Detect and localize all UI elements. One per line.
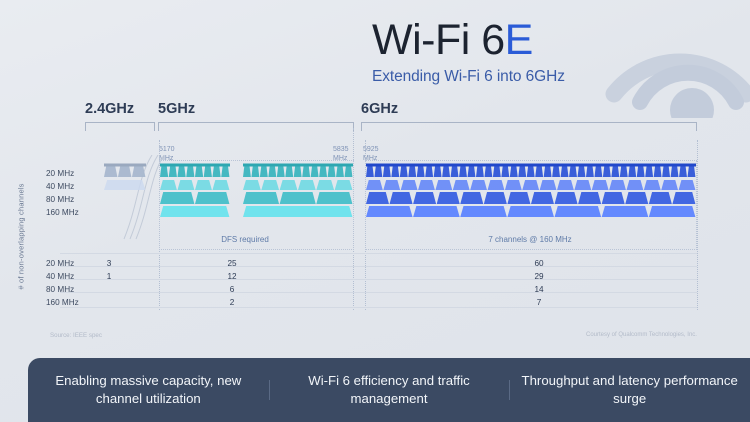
table-rule-top: [60, 253, 697, 254]
footer-item-1: Enabling massive capacity, new channel u…: [28, 372, 269, 408]
table-cell-6ghz-40mhz: 29: [519, 272, 559, 281]
table-rule-3: [60, 292, 697, 293]
spectrum-channel: [104, 166, 117, 177]
table-row-label-80mhz: 80 MHz: [46, 285, 90, 294]
chart-row-label-40mhz: 40 MHz: [46, 182, 90, 191]
table-rule-1: [60, 266, 697, 267]
spectrum-row-cap: [104, 164, 146, 167]
footer-item-2: Wi-Fi 6 efficiency and traffic managemen…: [269, 372, 510, 408]
table-cell-24ghz-20mhz: 3: [89, 259, 129, 268]
table-rule-2: [60, 279, 697, 280]
credit-note: Courtesy of Qualcomm Technologies, Inc.: [586, 332, 697, 338]
table-row-label-160mhz: 160 MHz: [46, 298, 90, 307]
table-cell-6ghz-160mhz: 7: [519, 298, 559, 307]
source-note: Source: IEEE spec: [50, 332, 102, 339]
table-row-label-20mhz: 20 MHz: [46, 259, 90, 268]
spectrum-channel: [104, 180, 145, 190]
footer-bar: Enabling massive capacity, new channel u…: [28, 358, 750, 422]
chart-row-label-80mhz: 80 MHz: [46, 195, 90, 204]
spectrum-channel: [132, 166, 145, 177]
table-rule-bottom: [60, 307, 697, 308]
chart-row-label-20mhz: 20 MHz: [46, 169, 90, 178]
table-cell-5ghz-20mhz: 25: [212, 259, 252, 268]
table-row-label-40mhz: 40 MHz: [46, 272, 90, 281]
table-cell-6ghz-80mhz: 14: [519, 285, 559, 294]
annotation-7-channels: 7 channels @ 160 MHz: [420, 235, 640, 244]
table-cell-5ghz-80mhz: 6: [212, 285, 252, 294]
table-cell-5ghz-40mhz: 12: [212, 272, 252, 281]
footer-item-3: Throughput and latency performance surge: [509, 372, 750, 408]
table-cell-5ghz-160mhz: 2: [212, 298, 252, 307]
chart-row-label-160mhz: 160 MHz: [46, 208, 90, 217]
table-cell-24ghz-40mhz: 1: [89, 272, 129, 281]
spectrum-channel: [118, 166, 131, 177]
slide-root: Wi-Fi 6E Extending Wi-Fi 6 into 6GHz 2.4…: [0, 0, 750, 422]
annotation-dfs-required: DFS required: [180, 235, 310, 244]
table-cell-6ghz-20mhz: 60: [519, 259, 559, 268]
